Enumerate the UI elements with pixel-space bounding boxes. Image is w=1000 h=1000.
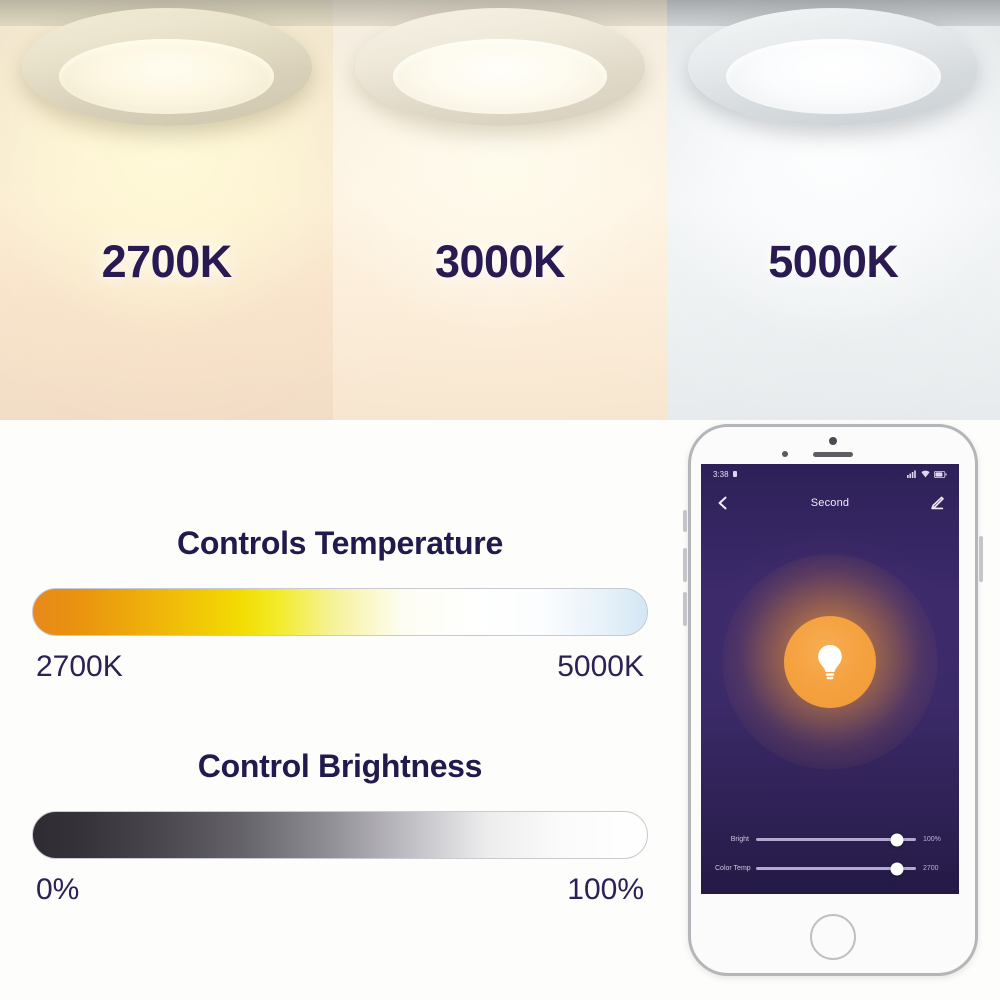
light-bulb-icon xyxy=(813,642,847,682)
brightness-max-label: 100% xyxy=(567,873,644,907)
brightness-control-block: Control Brightness 0% 100% xyxy=(0,748,680,907)
pencil-edit-icon[interactable] xyxy=(929,495,945,511)
temperature-max-label: 5000K xyxy=(557,650,644,684)
ceiling-light-5000k xyxy=(688,8,978,126)
status-bar-right xyxy=(907,470,947,478)
silence-switch[interactable] xyxy=(683,510,687,532)
bluetooth-icon xyxy=(733,471,737,477)
ceiling-light-2700k xyxy=(22,8,312,126)
brightness-gradient-bar[interactable] xyxy=(32,811,648,859)
app-screen-title: Second xyxy=(811,497,850,509)
chevron-left-icon[interactable] xyxy=(715,495,731,511)
app-nav-bar: Second xyxy=(701,486,959,520)
smartphone-mockup: 3:38 xyxy=(688,424,978,976)
kelvin-label-3000k: 3000K xyxy=(333,236,666,288)
front-camera-icon xyxy=(829,437,837,445)
app-slider-label-bright: Bright xyxy=(715,836,749,843)
app-slider-knob-color-temp[interactable] xyxy=(890,862,903,875)
fixture-lens xyxy=(726,39,941,115)
temperature-control-block: Controls Temperature 2700K 5000K xyxy=(0,525,680,684)
app-slider-track-bright[interactable] xyxy=(756,838,916,841)
app-slider-value-color-temp: 2700 xyxy=(923,865,945,872)
brightness-range-labels: 0% 100% xyxy=(36,873,644,907)
app-slider-row-color-temp: Color Temp 2700 xyxy=(715,865,945,872)
volume-up-button[interactable] xyxy=(683,548,687,582)
power-button[interactable] xyxy=(979,536,983,582)
status-bar: 3:38 xyxy=(701,464,959,484)
status-bar-left: 3:38 xyxy=(713,470,737,479)
proximity-sensor-icon xyxy=(782,451,788,457)
battery-icon xyxy=(934,471,947,478)
app-slider-track-color-temp[interactable] xyxy=(756,867,916,870)
phone-screen: 3:38 xyxy=(701,464,959,894)
brightness-min-label: 0% xyxy=(36,873,79,907)
color-temperature-comparison: 2700K 3000K 5000K xyxy=(0,0,1000,420)
temperature-range-labels: 2700K 5000K xyxy=(36,650,644,684)
signal-bars-icon xyxy=(907,470,917,478)
volume-down-button[interactable] xyxy=(683,592,687,626)
app-slider-knob-bright[interactable] xyxy=(890,833,903,846)
controls-section: Controls Temperature 2700K 5000K Control… xyxy=(0,420,680,1000)
brightness-title: Control Brightness xyxy=(0,748,680,785)
bulb-toggle[interactable] xyxy=(784,616,876,708)
wifi-icon xyxy=(921,470,930,478)
home-button[interactable] xyxy=(810,914,856,960)
temperature-title: Controls Temperature xyxy=(0,525,680,562)
app-slider-label-color-temp: Color Temp xyxy=(715,865,749,872)
fixture-lens xyxy=(393,39,608,115)
status-time: 3:38 xyxy=(713,470,729,479)
panel-3000k: 3000K xyxy=(333,0,666,420)
panel-2700k: 2700K xyxy=(0,0,333,420)
app-slider-value-bright: 100% xyxy=(923,836,945,843)
temperature-gradient-bar[interactable] xyxy=(32,588,648,636)
temperature-min-label: 2700K xyxy=(36,650,123,684)
app-slider-group: Bright 100% Color Temp 2700 xyxy=(701,836,959,872)
app-slider-row-bright: Bright 100% xyxy=(715,836,945,843)
ceiling-light-3000k xyxy=(355,8,645,126)
kelvin-label-5000k: 5000K xyxy=(667,236,1000,288)
fixture-lens xyxy=(59,39,274,115)
kelvin-label-2700k: 2700K xyxy=(0,236,333,288)
earpiece-speaker xyxy=(813,452,853,457)
panel-5000k: 5000K xyxy=(667,0,1000,420)
